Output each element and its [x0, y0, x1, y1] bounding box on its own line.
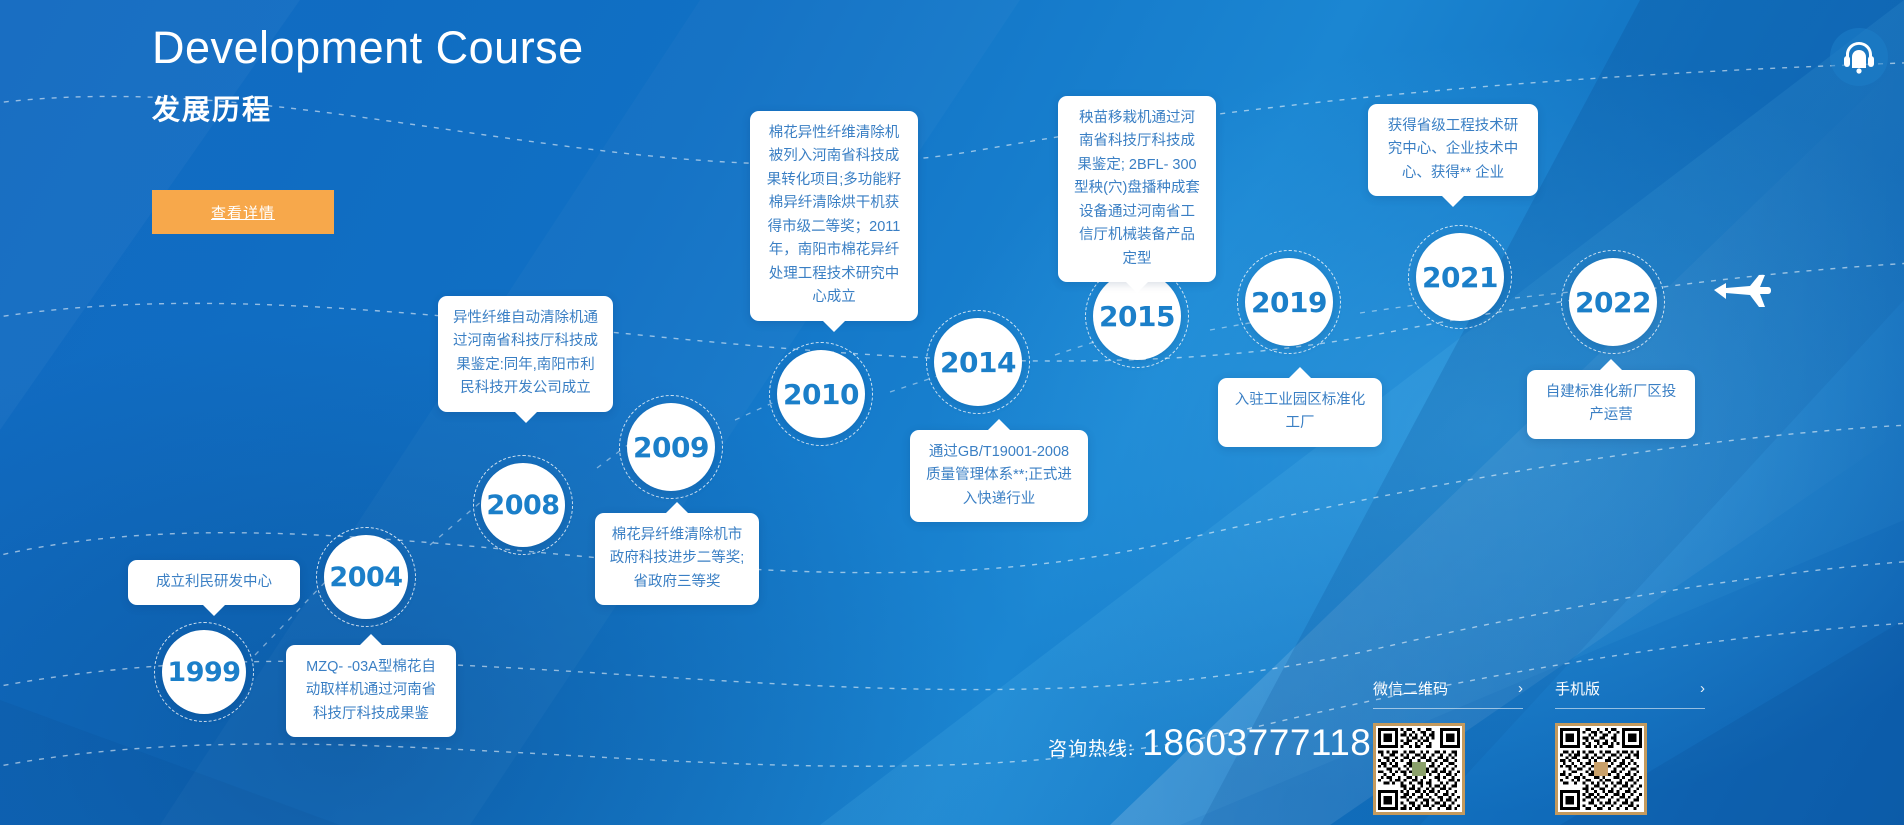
- year-circle-2019[interactable]: 2019: [1245, 258, 1333, 346]
- hotline: 咨询热线: 18603777118: [1048, 722, 1371, 764]
- callout-2008[interactable]: 异性纤维自动清除机通过河南省科技厅科技成果鉴定:同年,南阳市利民科技开发公司成立: [438, 296, 613, 412]
- year-circle-2008[interactable]: 2008: [481, 463, 565, 547]
- year-circle-2004[interactable]: 2004: [324, 535, 408, 619]
- year-circle-2021[interactable]: 2021: [1416, 233, 1504, 321]
- customer-service-icon[interactable]: [1830, 28, 1888, 86]
- development-course-page: Development Course 发展历程 查看详情 1999 成立利民研发…: [0, 0, 1904, 825]
- callout-1999[interactable]: 成立利民研发中心: [128, 560, 300, 605]
- qr-head-wechat[interactable]: 微信二维码 ›: [1373, 678, 1523, 709]
- chevron-right-icon: ›: [1518, 680, 1523, 697]
- callout-2019[interactable]: 入驻工业园区标准化工厂: [1218, 378, 1382, 447]
- qr-head-mobile[interactable]: 手机版 ›: [1555, 678, 1705, 709]
- callout-2022[interactable]: 自建标准化新厂区投产运营: [1527, 370, 1695, 439]
- callout-2014[interactable]: 通过GB/T19001-2008质量管理体系**;正式进入快递行业: [910, 430, 1088, 522]
- callout-2021[interactable]: 获得省级工程技术研究中心、企业技术中心、获得** 企业: [1368, 104, 1538, 196]
- year-circle-2010[interactable]: 2010: [777, 350, 865, 438]
- callout-2004[interactable]: MZQ- -03A型棉花自动取样机通过河南省科技厅科技成果鉴: [286, 645, 456, 737]
- qr-block-mobile: 手机版 ›: [1555, 678, 1705, 815]
- airplane-icon: [1710, 270, 1772, 319]
- callout-2010[interactable]: 棉花异性纤维清除机被列入河南省科技成果转化项目;多功能籽棉异纤清除烘干机获得市级…: [750, 111, 918, 321]
- year-circle-2022[interactable]: 2022: [1569, 258, 1657, 346]
- year-circle-1999[interactable]: 1999: [162, 630, 246, 714]
- year-circle-2009[interactable]: 2009: [627, 403, 715, 491]
- qr-block-wechat: 微信二维码 ›: [1373, 678, 1523, 815]
- year-circle-2014[interactable]: 2014: [934, 318, 1022, 406]
- qr-code-mobile: [1555, 723, 1647, 815]
- qr-label-mobile: 手机版: [1555, 678, 1600, 699]
- qr-label-wechat: 微信二维码: [1373, 678, 1448, 699]
- callout-2009[interactable]: 棉花异纤维清除机市政府科技进步二等奖;省政府三等奖: [595, 513, 759, 605]
- callout-2015[interactable]: 秧苗移栽机通过河南省科技厅科技成果鉴定; 2BFL- 300型秧(穴)盘播种成套…: [1058, 96, 1216, 282]
- chevron-right-icon: ›: [1700, 680, 1705, 697]
- hotline-number: 18603777118: [1142, 722, 1371, 764]
- qr-code-wechat: [1373, 723, 1465, 815]
- hotline-label: 咨询热线:: [1048, 734, 1134, 761]
